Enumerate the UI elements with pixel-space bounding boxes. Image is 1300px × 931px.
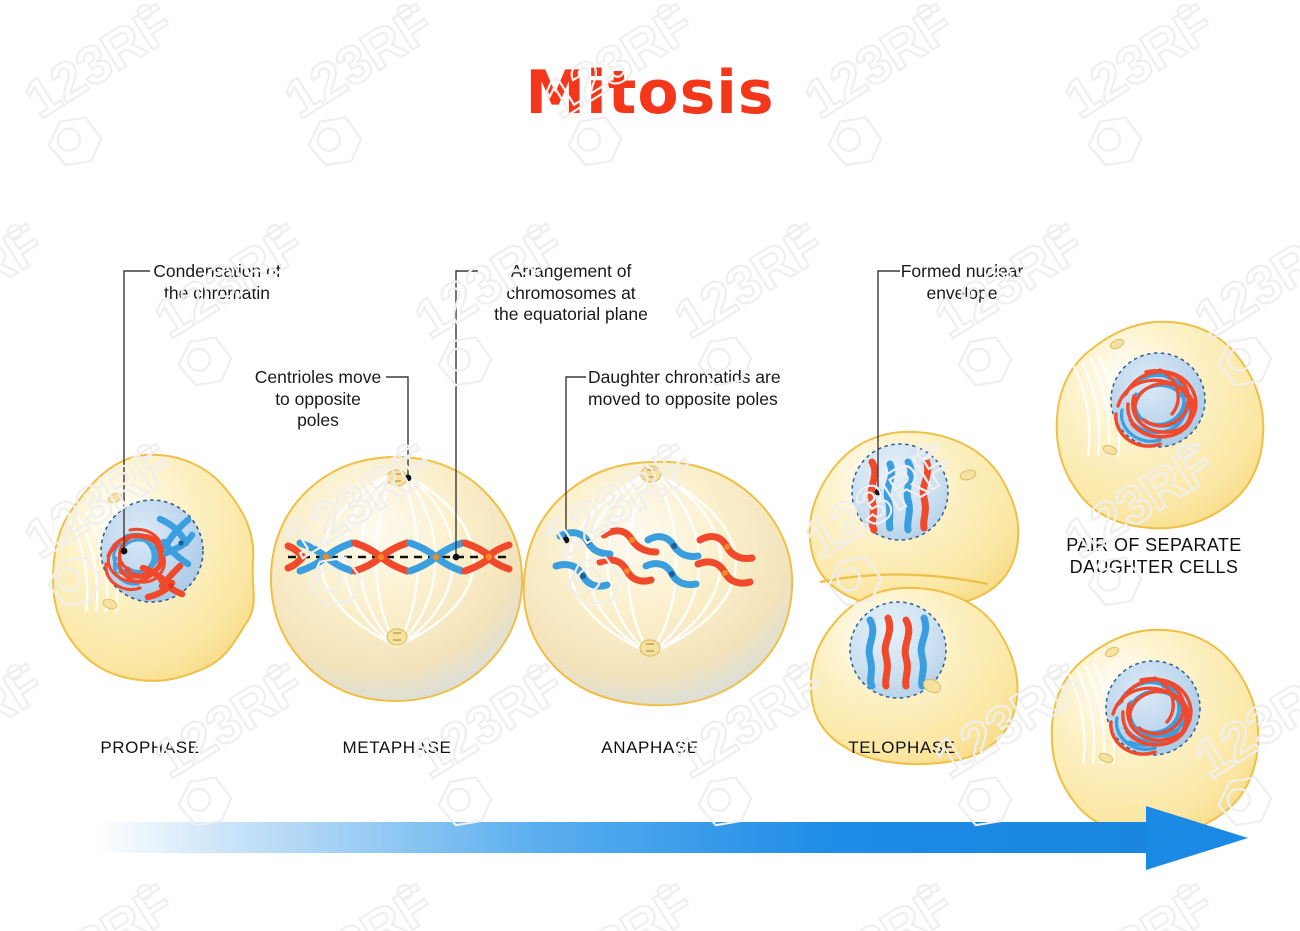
page-title: Mitosis [0,58,1300,128]
cell-prophase [53,455,254,681]
phase-label-prophase: PROPHASE [50,738,250,758]
phase-label-anaphase: ANAPHASE [550,738,750,758]
mitosis-diagram: Mitosis [0,0,1300,931]
cell-daughter-bottom [1052,630,1259,836]
cell-daughter-top [1057,322,1264,528]
callout-condensation: Condensation of the chromatin [152,261,282,304]
callout-centrioles: Centrioles move to opposite poles [252,367,384,432]
cell-anaphase [524,462,792,705]
callout-envelope: Formed nuclear envelope [896,261,1028,304]
callout-chromatids: Daughter chromatids are moved to opposit… [588,367,784,410]
cell-metaphase [271,457,522,701]
cells-artwork [0,0,1300,931]
cell-telophase [810,432,1019,764]
time-arrow [95,806,1248,870]
phase-label-telophase: TELOPHASE [802,738,1002,758]
daughter-cells-caption: PAIR OF SEPARATE DAUGHTER CELLS [1038,534,1270,578]
phase-label-metaphase: METAPHASE [297,738,497,758]
callout-arrangement: Arrangement of chromosomes at the equato… [478,261,664,326]
title-text: Mitosis [525,58,774,128]
